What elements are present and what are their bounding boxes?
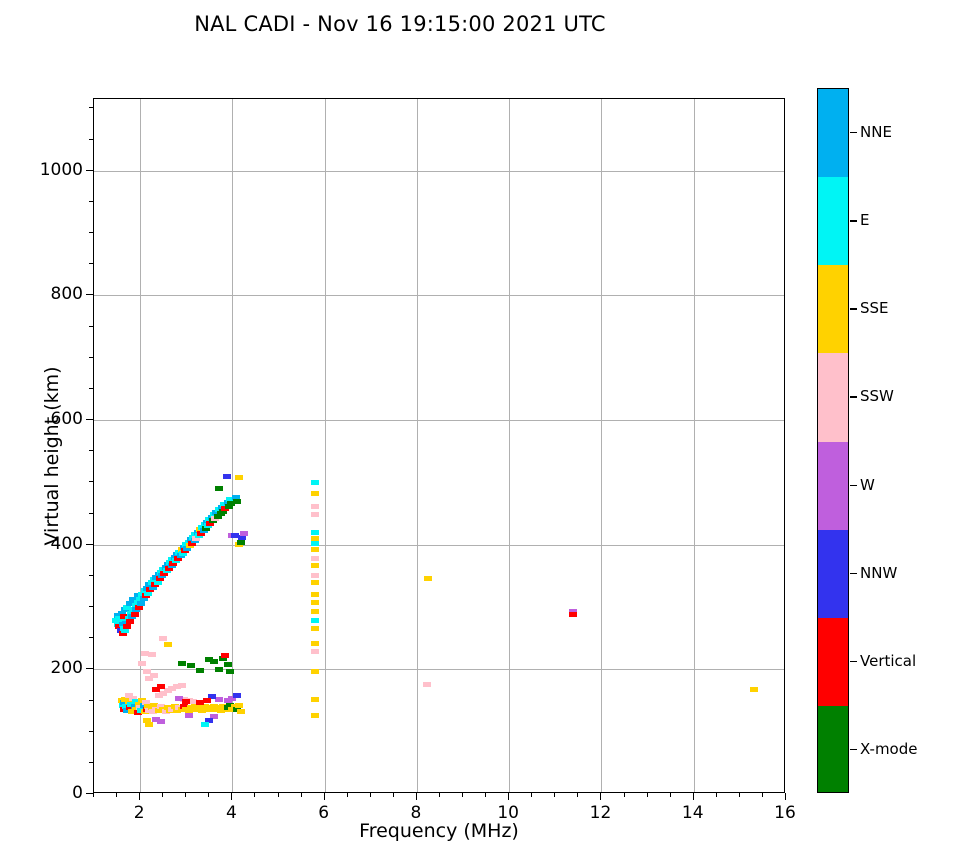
x-axis-tick: [693, 793, 694, 800]
data-point: [311, 600, 319, 605]
colorbar-label-sse: SSE: [860, 299, 889, 317]
x-axis-minor-tick: [162, 793, 163, 797]
y-axis-tick-label: 200: [31, 658, 83, 678]
y-axis-minor-tick: [89, 263, 93, 264]
colorbar-segment-ssw[interactable]: [818, 353, 848, 441]
x-axis-minor-tick: [485, 793, 486, 797]
data-point: [131, 612, 139, 617]
data-point: [311, 556, 319, 561]
data-point: [311, 491, 319, 496]
x-axis-minor-tick: [554, 793, 555, 797]
data-point: [311, 609, 319, 614]
colorbar-label-x-mode: X-mode: [860, 740, 917, 758]
x-axis-minor-tick: [347, 793, 348, 797]
data-point: [311, 626, 319, 631]
data-point: [240, 531, 248, 536]
data-point: [311, 641, 319, 646]
x-axis-minor-tick: [254, 793, 255, 797]
colorbar-tick: [850, 308, 857, 309]
x-axis-tick: [139, 793, 140, 800]
data-point: [233, 693, 241, 698]
y-axis-minor-tick: [89, 450, 93, 451]
data-point: [423, 682, 431, 687]
data-point: [178, 683, 186, 688]
y-axis-tick-label: 1000: [31, 160, 83, 180]
colorbar-label-ssw: SSW: [860, 387, 894, 405]
x-axis-minor-tick: [577, 793, 578, 797]
data-point: [311, 530, 319, 535]
data-point: [424, 576, 432, 581]
colorbar-label-nnw: NNW: [860, 564, 897, 582]
data-point: [311, 649, 319, 654]
colorbar-tick: [850, 220, 857, 221]
y-axis-minor-tick: [89, 107, 93, 108]
y-axis-minor-tick: [89, 637, 93, 638]
y-axis-minor-tick: [89, 232, 93, 233]
data-point: [311, 580, 319, 585]
chart-title: NAL CADI - Nov 16 19:15:00 2021 UTC: [0, 12, 800, 36]
colorbar-segment-x-mode[interactable]: [818, 706, 848, 793]
colorbar-label-nne: NNE: [860, 123, 892, 141]
x-axis-minor-tick: [716, 793, 717, 797]
colorbar-tick: [850, 661, 857, 662]
data-point: [126, 619, 134, 624]
colorbar-tick: [850, 749, 857, 750]
y-axis-tick: [86, 793, 93, 794]
x-axis-minor-tick: [739, 793, 740, 797]
y-axis-tick: [86, 294, 93, 295]
data-point: [123, 624, 131, 629]
y-axis-tick-label: 800: [31, 284, 83, 304]
y-axis-minor-tick: [89, 700, 93, 701]
y-axis-minor-tick: [89, 357, 93, 358]
x-axis-tick: [324, 793, 325, 800]
y-axis-minor-tick: [89, 481, 93, 482]
y-axis-minor-tick: [89, 326, 93, 327]
x-axis-tick: [231, 793, 232, 800]
data-point: [311, 573, 319, 578]
data-point: [221, 653, 229, 658]
data-point: [215, 486, 223, 491]
data-point: [152, 717, 160, 722]
x-axis-minor-tick: [185, 793, 186, 797]
y-axis-minor-tick: [89, 575, 93, 576]
colorbar-segment-w[interactable]: [818, 442, 848, 530]
data-point: [311, 697, 319, 702]
data-point: [569, 612, 577, 617]
y-axis-minor-tick: [89, 201, 93, 202]
y-axis-minor-tick: [89, 762, 93, 763]
data-point: [164, 642, 172, 647]
colorbar-tick: [850, 396, 857, 397]
y-axis-tick: [86, 544, 93, 545]
data-point: [311, 547, 319, 552]
data-point: [226, 669, 234, 674]
data-point: [311, 618, 319, 623]
x-axis-minor-tick: [278, 793, 279, 797]
colorbar-label-e: E: [860, 211, 869, 229]
x-axis-minor-tick: [301, 793, 302, 797]
y-axis-minor-tick: [89, 139, 93, 140]
data-point: [311, 592, 319, 597]
y-axis-tick: [86, 419, 93, 420]
data-point: [157, 684, 165, 689]
x-axis-tick: [416, 793, 417, 800]
x-axis-minor-tick: [462, 793, 463, 797]
data-point: [311, 563, 319, 568]
x-axis-minor-tick: [208, 793, 209, 797]
x-axis-minor-tick: [439, 793, 440, 797]
data-point: [237, 709, 245, 714]
data-point: [148, 652, 156, 657]
x-axis-minor-tick: [116, 793, 117, 797]
data-point: [159, 636, 167, 641]
data-point: [201, 722, 209, 727]
x-axis-minor-tick: [647, 793, 648, 797]
colorbar-tick: [850, 573, 857, 574]
x-axis-minor-tick: [762, 793, 763, 797]
data-point: [224, 662, 232, 667]
colorbar-label-vertical: Vertical: [860, 652, 916, 670]
colorbar-segment-nnw[interactable]: [818, 530, 848, 618]
data-point: [178, 661, 186, 666]
data-point: [233, 499, 241, 504]
data-point: [311, 504, 319, 509]
y-axis-tick: [86, 668, 93, 669]
data-point: [237, 540, 245, 545]
data-point: [203, 698, 211, 703]
ionogram-figure: NAL CADI - Nov 16 19:15:00 2021 UTC 2468…: [0, 0, 958, 857]
x-axis-minor-tick: [531, 793, 532, 797]
data-point: [182, 699, 190, 704]
data-point: [185, 713, 193, 718]
data-point: [215, 667, 223, 672]
data-point: [311, 541, 319, 546]
plot-area: [93, 98, 785, 793]
y-axis-minor-tick: [89, 731, 93, 732]
x-axis-title: Frequency (MHz): [93, 820, 785, 842]
y-axis-tick: [86, 170, 93, 171]
data-point: [311, 713, 319, 718]
colorbar-tick: [850, 132, 857, 133]
data-point: [145, 722, 153, 727]
data-point: [311, 480, 319, 485]
x-axis-minor-tick: [93, 793, 94, 797]
data-points-layer: [94, 99, 784, 792]
colorbar-segment-e[interactable]: [818, 177, 848, 265]
y-axis-title: Virtual height (km): [41, 316, 63, 596]
y-axis-minor-tick: [89, 513, 93, 514]
colorbar-segment-vertical[interactable]: [818, 618, 848, 706]
data-point: [210, 659, 218, 664]
y-axis-minor-tick: [89, 606, 93, 607]
y-axis-tick-label: 0: [31, 783, 83, 803]
colorbar-segment-sse[interactable]: [818, 265, 848, 353]
data-point: [235, 475, 243, 480]
data-point: [138, 661, 146, 666]
x-axis-tick: [785, 793, 786, 800]
y-axis-minor-tick: [89, 388, 93, 389]
data-point: [187, 663, 195, 668]
x-axis-minor-tick: [370, 793, 371, 797]
data-point: [215, 697, 223, 702]
x-axis-tick: [508, 793, 509, 800]
data-point: [196, 668, 204, 673]
colorbar[interactable]: [817, 88, 849, 793]
x-axis-minor-tick: [624, 793, 625, 797]
data-point: [150, 673, 158, 678]
colorbar-label-w: W: [860, 476, 875, 494]
data-point: [311, 669, 319, 674]
data-point: [143, 669, 151, 674]
data-point: [750, 687, 758, 692]
colorbar-segment-nne[interactable]: [818, 89, 848, 177]
data-point: [137, 601, 145, 606]
data-point: [235, 703, 243, 708]
x-axis-minor-tick: [670, 793, 671, 797]
x-axis-minor-tick: [393, 793, 394, 797]
colorbar-tick: [850, 485, 857, 486]
data-point: [311, 512, 319, 517]
x-axis-tick: [600, 793, 601, 800]
data-point: [223, 474, 231, 479]
